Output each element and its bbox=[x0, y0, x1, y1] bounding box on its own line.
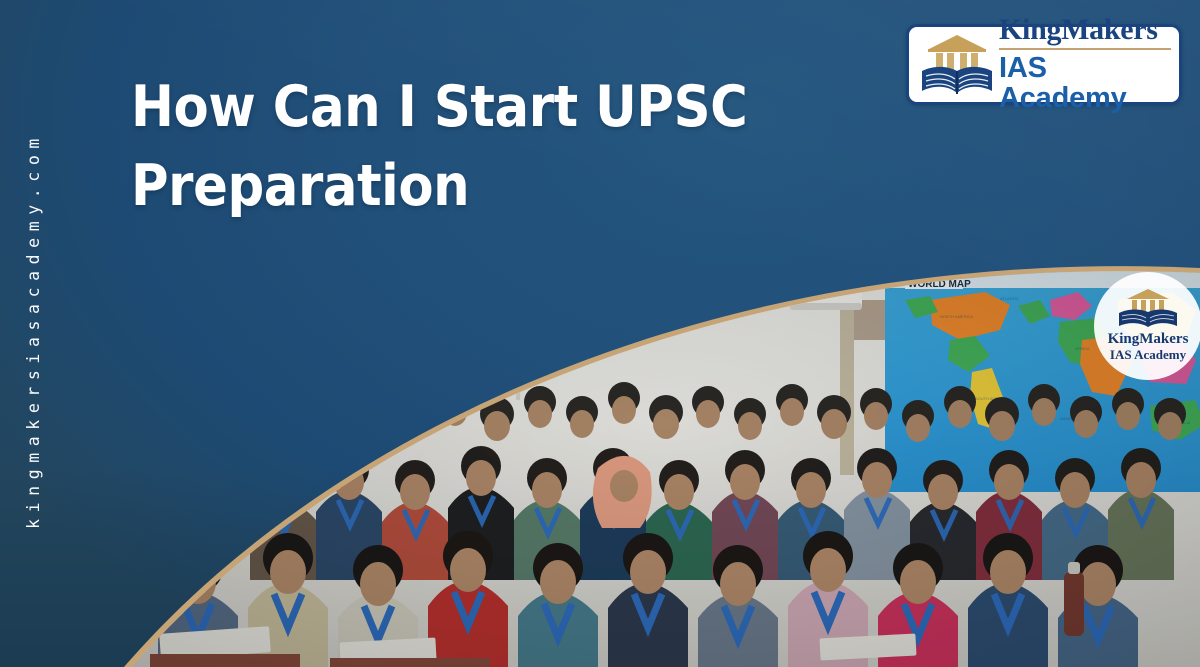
logo-wordmark: KingMakers IAS Academy bbox=[995, 15, 1171, 113]
promotional-banner: WORLD MAP NORTH AMERICA SOUTH AMERICA AF… bbox=[0, 0, 1200, 667]
logo-name-secondary: IAS Academy bbox=[999, 50, 1171, 114]
brand-logo[interactable]: KingMakers IAS Academy bbox=[906, 24, 1182, 105]
watermark-name-secondary: IAS Academy bbox=[1110, 348, 1186, 362]
website-url-text: kingmakersiasacademy.com bbox=[24, 132, 43, 535]
watermark-name-primary: KingMakers bbox=[1108, 332, 1189, 348]
temple-book-icon bbox=[919, 33, 995, 97]
temple-book-icon bbox=[1117, 288, 1179, 330]
vertical-website-url: kingmakersiasacademy.com bbox=[0, 0, 66, 667]
photo-watermark-logo: KingMakers IAS Academy bbox=[1094, 272, 1200, 380]
page-title: How Can I Start UPSC Preparation bbox=[131, 68, 851, 225]
logo-name-primary: KingMakers bbox=[999, 15, 1171, 50]
classroom-photo: WORLD MAP NORTH AMERICA SOUTH AMERICA AF… bbox=[110, 255, 1200, 667]
headline-line-1: How Can I Start UPSC bbox=[131, 68, 851, 147]
headline-line-2: Preparation bbox=[131, 147, 851, 226]
